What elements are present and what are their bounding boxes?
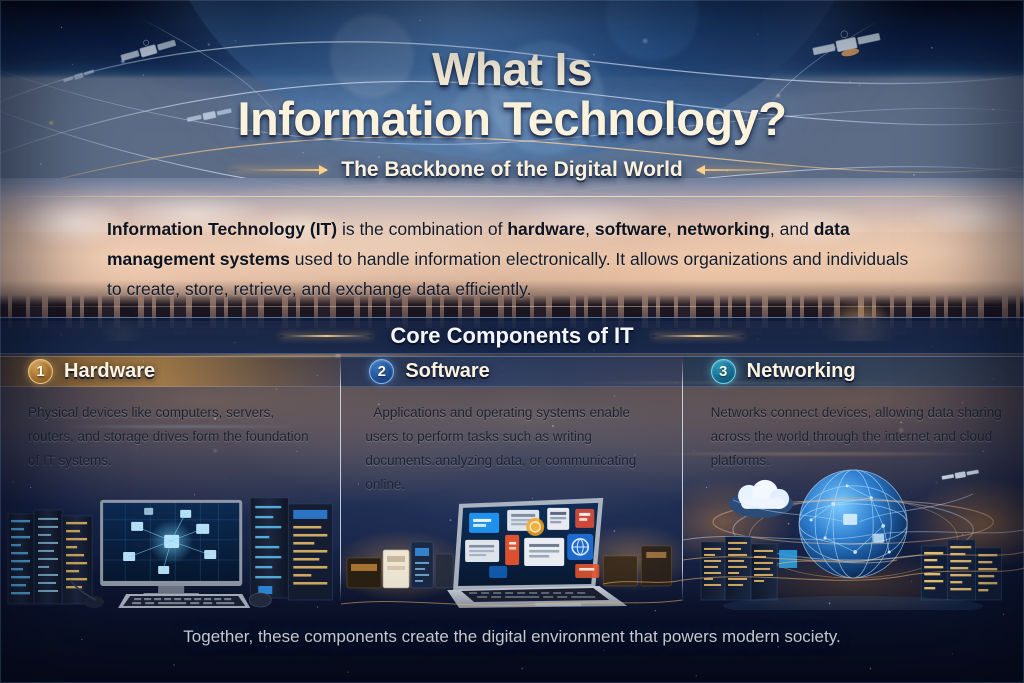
intro-term-networking: networking [677,219,770,239]
laptop-with-app-windows-illustration [341,480,682,610]
badge-number-1: 1 [28,359,53,384]
intro-term-it: Information Technology (IT) [107,219,337,239]
column-body-hardware: Physical devices like computers, servers… [0,387,341,473]
section-heading: Core Components of IT [390,323,633,349]
keyboard-icon [118,594,250,608]
intro-text-1: is the combination of [337,219,507,239]
heading-dash-right [652,335,744,337]
component-column-hardware: 1 Hardware Physical devices like compute… [0,356,341,610]
column-title-networking: Networking [747,360,856,383]
column-header-software: 2 Software [341,356,682,387]
subtitle-row: The Backbone of the Digital World [0,158,1024,182]
footer-block: Together, these components create the di… [0,627,1024,647]
column-title-hardware: Hardware [64,360,155,383]
intro-text-2: , and [770,219,814,239]
page-title-line-2: Information Technology? [0,94,1024,144]
server-rack-icon [921,540,1001,600]
server-racks-desktop-computer-illustration [0,480,341,610]
monitor-icon [100,500,242,597]
column-title-software: Software [405,360,489,383]
intro-term-hardware: hardware [507,219,585,239]
intro-paragraph: Information Technology (IT) is the combi… [107,214,914,304]
components-columns: 1 Hardware Physical devices like compute… [0,356,1024,610]
arrow-right-icon [231,169,327,171]
heading-dash-left [280,335,372,337]
page-subtitle: The Backbone of the Digital World [341,158,682,182]
server-tower-icon [250,498,332,600]
section-heading-band: Core Components of IT [0,317,1024,354]
globe-network-cloud-servers-illustration [683,464,1024,610]
intro-term-software: software [595,219,667,239]
arrow-left-icon [697,169,793,171]
intro-sep-2: , [667,219,677,239]
column-header-hardware: 1 Hardware [0,356,341,387]
globe-icon [799,470,907,578]
page-title-line-1: What Is [0,44,1024,94]
badge-number-3: 3 [711,359,736,384]
footer-text: Together, these components create the di… [183,627,840,646]
component-column-software: 2 Software Applications and operating sy… [341,356,682,610]
mouse-icon [249,593,271,607]
component-column-networking: 3 Networking Networks connect devices, a… [683,356,1024,610]
infographic-poster: What Is Information Technology? The Back… [0,0,1024,683]
title-block: What Is Information Technology? The Back… [0,44,1024,182]
intro-sep-1: , [585,219,595,239]
column-body-networking: Networks connect devices, allowing data … [683,387,1024,473]
column-header-networking: 3 Networking [683,356,1024,387]
